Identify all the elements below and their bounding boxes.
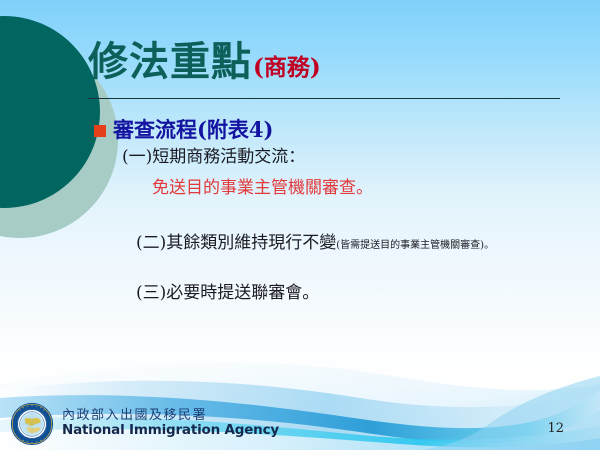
- agency-name-block: 內政部入出國及移民署 National Immigration Agency: [62, 409, 279, 439]
- footer-branding: 內政部入出國及移民署 National Immigration Agency: [10, 402, 279, 446]
- title-line: 修法重點(商務): [88, 42, 566, 82]
- list-item-1-label: (一)短期商務活動交流：: [122, 147, 564, 167]
- list-item-2: (二)其餘類別維持現行不變(皆需提送目的事業主管機關審查)。: [136, 233, 564, 253]
- list-item-1-emphasis: 免送目的事業主管機關審查。: [152, 178, 564, 198]
- title-divider: [88, 98, 560, 99]
- agency-emblem-icon: [10, 402, 54, 446]
- slide-title: 修法重點(商務): [88, 42, 566, 82]
- agency-name-english: National Immigration Agency: [62, 423, 279, 437]
- list-item-2-label: (二)其餘類別維持現行不變: [136, 233, 336, 253]
- section-heading: 審查流程(附表4): [94, 118, 564, 141]
- page-number: 12: [547, 421, 564, 436]
- square-bullet-icon: [94, 125, 106, 137]
- section-heading-label: 審查流程(附表4): [113, 118, 273, 141]
- slide-body: 審查流程(附表4) (一)短期商務活動交流： 免送目的事業主管機關審查。 (二)…: [94, 118, 564, 304]
- slide-canvas: 修法重點(商務) 審查流程(附表4) (一)短期商務活動交流： 免送目的事業主管…: [0, 0, 600, 450]
- list-item-2-note: (皆需提送目的事業主管機關審查)。: [336, 240, 494, 251]
- list-item-3-label: (三)必要時提送聯審會。: [136, 283, 564, 303]
- title-sub-text: (商務): [253, 54, 321, 81]
- agency-name-chinese: 內政部入出國及移民署: [62, 409, 279, 423]
- title-main-text: 修法重點: [88, 38, 252, 85]
